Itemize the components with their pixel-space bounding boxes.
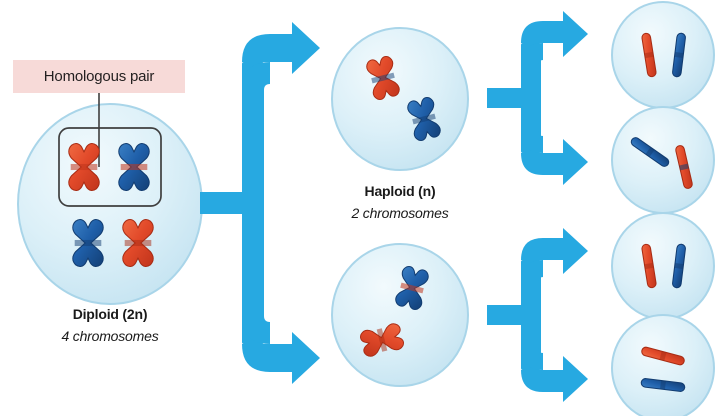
arrow-fork-meiosis-2-top [487, 11, 588, 185]
cell-gamete-2 [612, 107, 714, 213]
arrow-fork-meiosis-2-bottom [487, 228, 588, 402]
diploid-label-subtitle: 4 chromosomes [0, 328, 220, 344]
cell-membrane-gamete-1 [612, 2, 714, 108]
haploid-label-title: Haploid (n) [310, 183, 490, 199]
haploid-label-subtitle: 2 chromosomes [310, 205, 490, 221]
cell-gamete-3 [612, 213, 714, 319]
cell-diploid [18, 93, 202, 304]
cell-gamete-4 [612, 315, 714, 416]
cell-haploid-bottom [332, 244, 468, 386]
homologous-pair-label: Homologous pair [44, 69, 154, 84]
cell-membrane-haploid-bottom [332, 244, 468, 386]
cell-gamete-1 [612, 2, 714, 108]
cell-membrane-gamete-4 [612, 315, 714, 416]
diploid-label-title: Diploid (2n) [0, 306, 220, 322]
cell-membrane-haploid-top [332, 28, 468, 170]
cell-membrane-gamete-3 [612, 213, 714, 319]
diagram-canvas: Homologous pair Diploid (2n) 4 chromosom… [0, 0, 720, 416]
homologous-pair-callout: Homologous pair [13, 60, 185, 93]
cell-haploid-top [332, 28, 468, 170]
cell-membrane-diploid [18, 104, 202, 304]
